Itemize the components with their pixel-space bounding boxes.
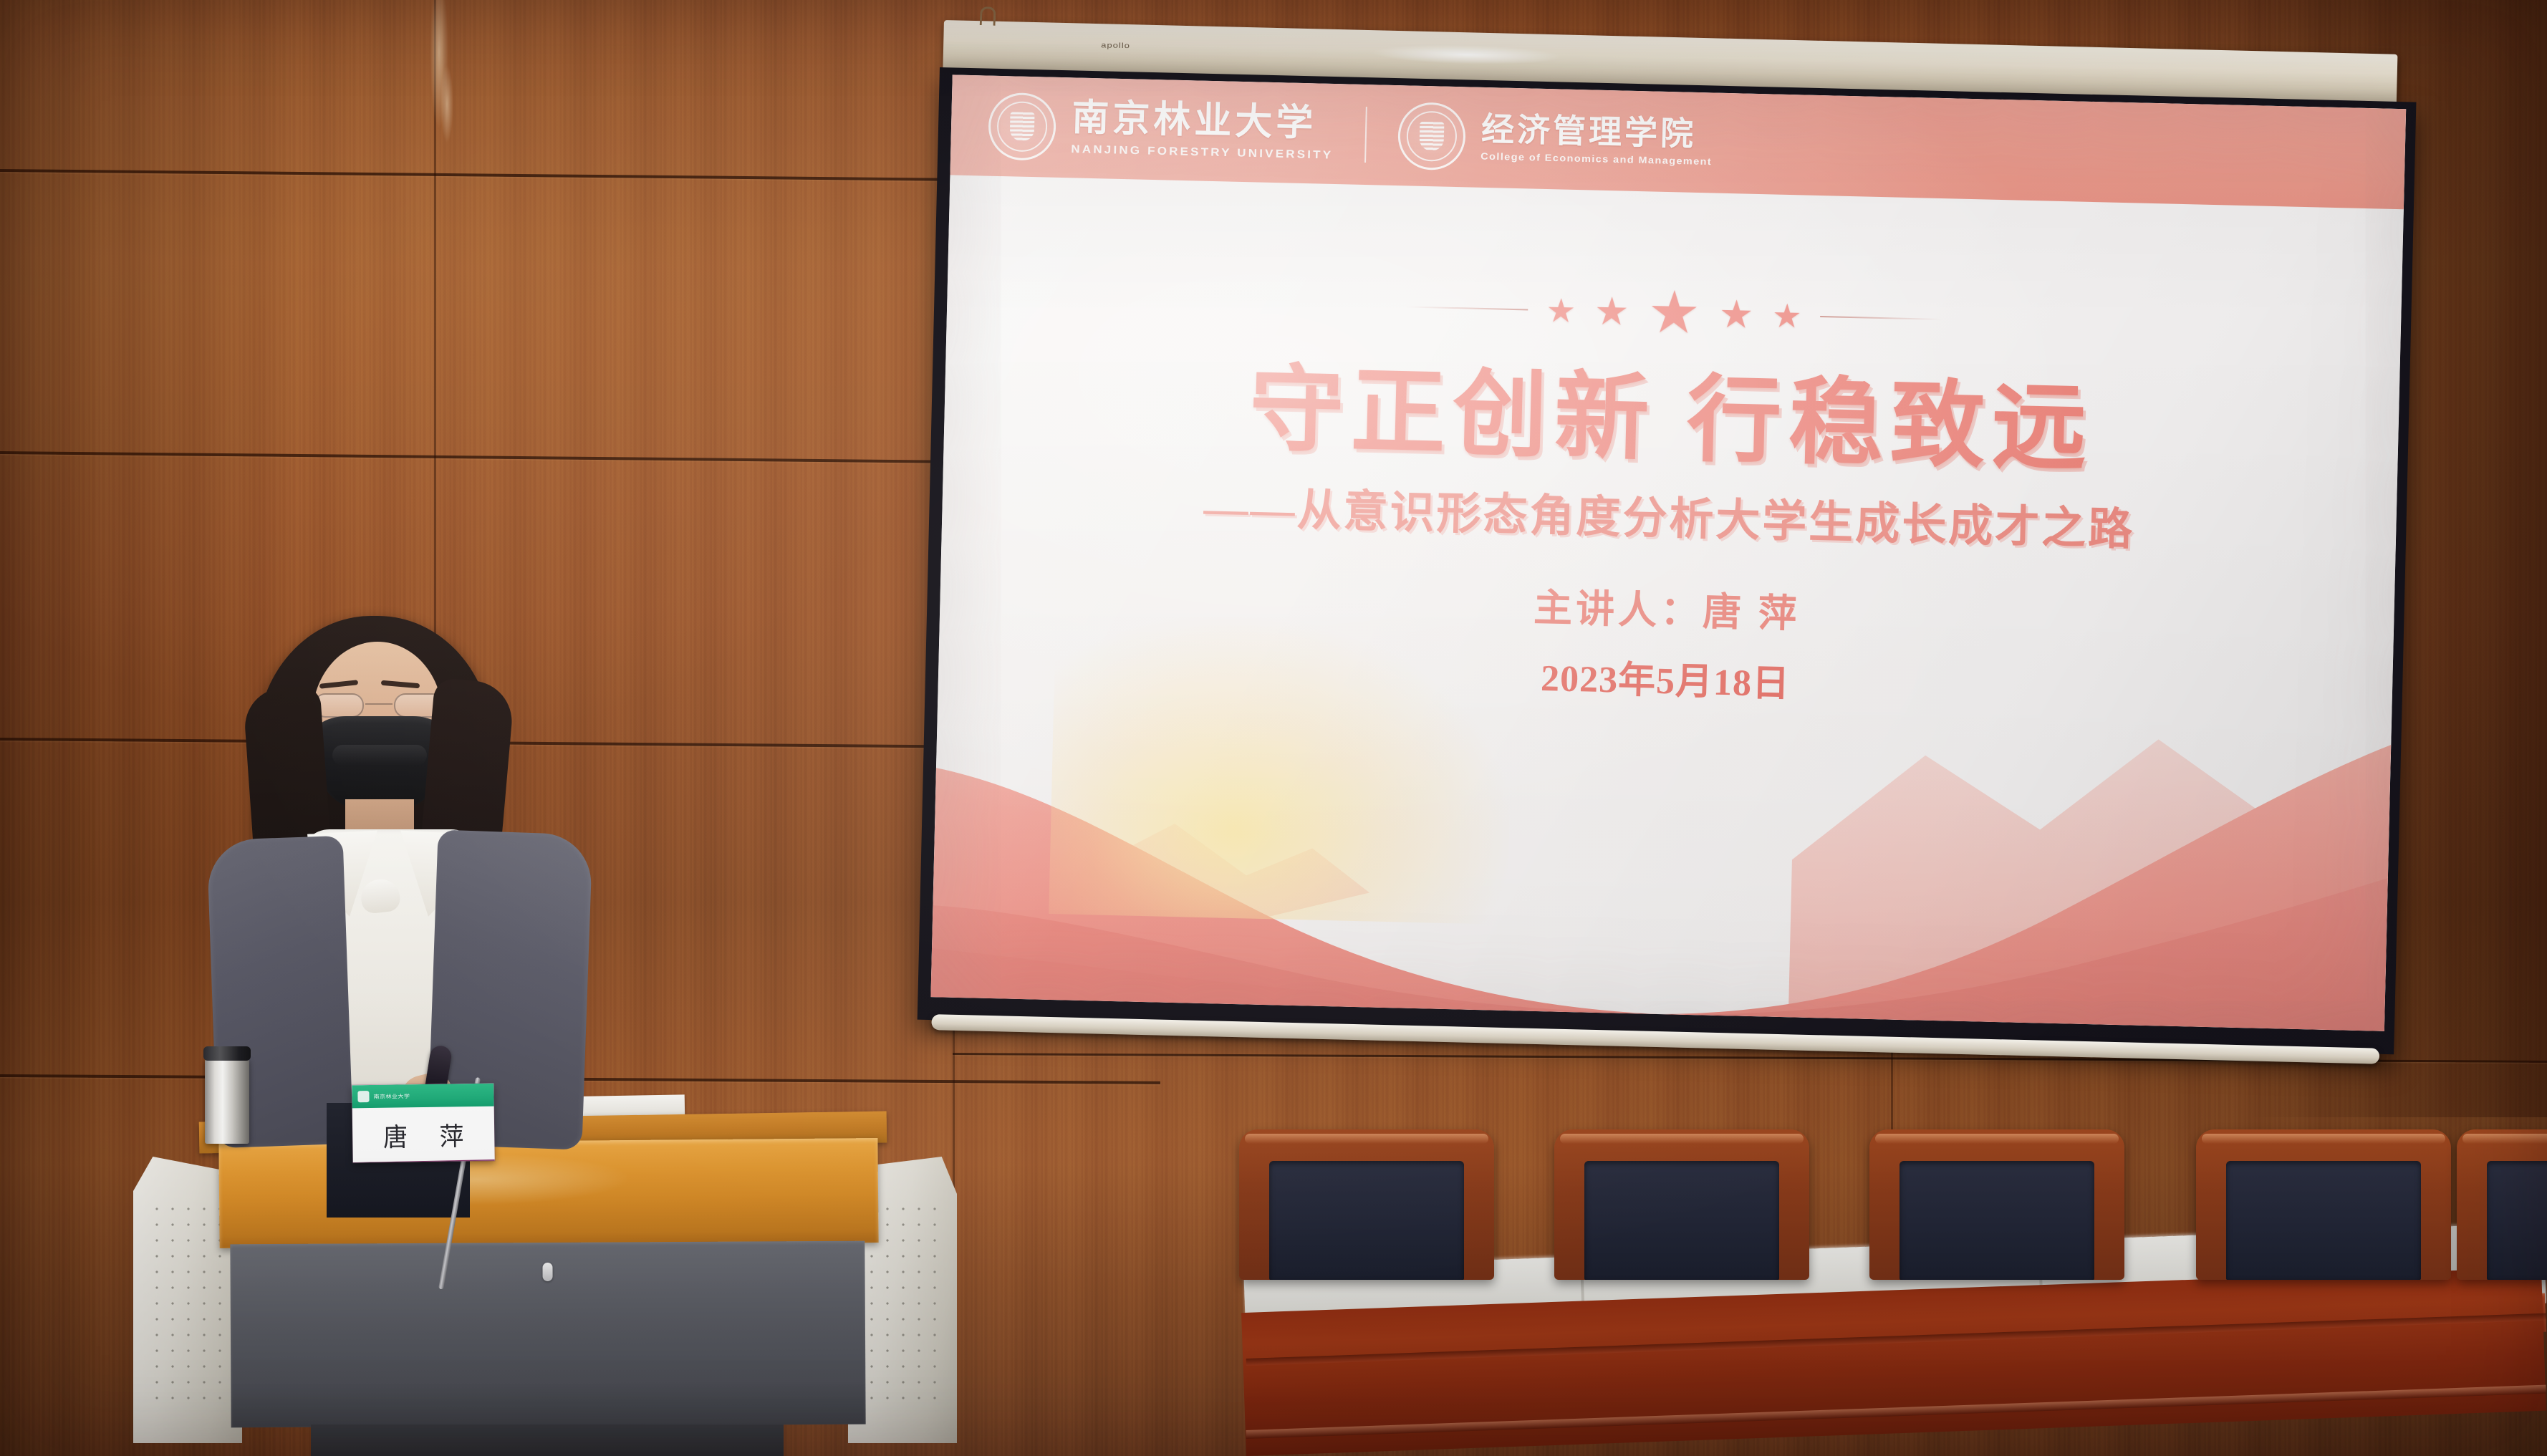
glasses-bridge [365,703,393,705]
nameplate-logo-icon [357,1091,369,1102]
lecture-hall-scene: apollo 南京林业大学 NANJING FORESTRY UNIVERSIT… [0,0,2547,1456]
star-icon: ★ [1772,299,1802,332]
thermos-icon[interactable] [205,1058,249,1144]
college-name-en: College of Economics and Management [1480,152,1712,168]
star-icon: ★ [1647,283,1700,343]
projection-screen-canvas: 南京林业大学 NANJING FORESTRY UNIVERSITY 经济管理学… [930,74,2406,1031]
chair [1869,1129,2124,1280]
university-crest-icon [988,92,1056,161]
projection-screen-frame: 南京林业大学 NANJING FORESTRY UNIVERSITY 经济管理学… [918,67,2417,1054]
podium-knob-icon[interactable] [542,1263,552,1281]
star-icon: ★ [1594,292,1629,332]
screen-brand-label: apollo [1101,41,1130,50]
vertical-divider-icon [1364,107,1367,163]
chair [1239,1129,1494,1280]
presentation-slide: 南京林业大学 NANJING FORESTRY UNIVERSITY 经济管理学… [930,74,2406,1031]
chair [2196,1129,2451,1280]
college-crest-icon [1397,102,1466,170]
decorative-line-icon [1821,316,1942,320]
college-name-cn: 经济管理学院 [1481,112,1713,153]
chair [2457,1129,2547,1280]
name-placard: 南京林业大学 唐 萍 [352,1084,494,1163]
chair [1554,1129,1809,1280]
placard-band-text: 南京林业大学 [373,1092,410,1100]
conference-table-area [1246,1074,2547,1456]
placard-name: 唐 萍 [352,1105,495,1163]
star-icon: ★ [1718,295,1754,334]
college-logo-block: 经济管理学院 College of Economics and Manageme… [1397,102,1713,176]
star-icon: ★ [1546,294,1576,327]
podium-base [311,1424,784,1456]
decorative-line-icon [1406,306,1528,310]
eyeglasses-icon [312,693,446,719]
university-name-en: NANJING FORESTRY UNIVERSITY [1071,143,1333,162]
screen-hook-icon [980,6,996,26]
projection-screen-assembly: apollo 南京林业大学 NANJING FORESTRY UNIVERSIT… [944,20,2547,1073]
podium-front-panel [230,1241,865,1428]
university-name-cn: 南京林业大学 [1072,99,1334,144]
university-logo-block: 南京林业大学 NANJING FORESTRY UNIVERSITY [988,92,1334,168]
wall-gloss-highlight [440,64,453,143]
thermos-lid [203,1046,251,1061]
